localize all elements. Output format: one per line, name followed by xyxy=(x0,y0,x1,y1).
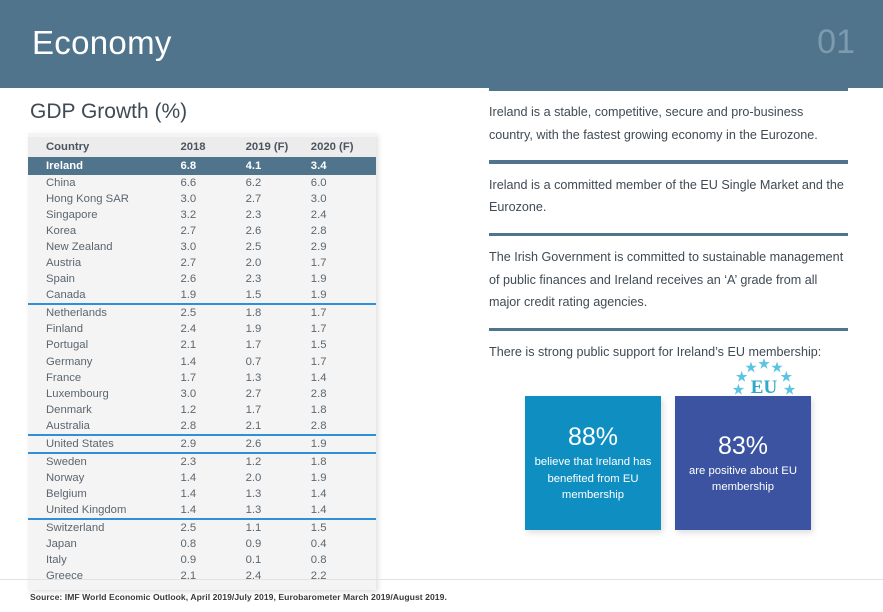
cell-2019: 1.3 xyxy=(246,370,311,386)
cell-2018: 1.7 xyxy=(180,370,245,386)
table-row: United Kingdom1.41.31.4 xyxy=(28,502,376,519)
cell-2018: 6.6 xyxy=(180,175,245,191)
cell-2018: 2.4 xyxy=(180,321,245,337)
table-row: Spain2.62.31.9 xyxy=(28,271,376,287)
table-header: Country 2018 2019 (F) 2020 (F) xyxy=(28,137,376,157)
table-row: Austria2.72.01.7 xyxy=(28,255,376,271)
column-header-country: Country xyxy=(28,137,180,157)
cell-2019: 2.5 xyxy=(246,239,311,255)
cell-2020: 2.2 xyxy=(311,568,376,584)
cell-2018: 2.3 xyxy=(180,453,245,470)
cell-2020: 2.8 xyxy=(311,223,376,239)
cell-country: Ireland xyxy=(28,157,180,175)
fact-block-3: The Irish Government is committed to sus… xyxy=(489,233,849,314)
cell-2018: 0.8 xyxy=(180,536,245,552)
cell-2018: 3.0 xyxy=(180,191,245,207)
fact-rule-4 xyxy=(489,328,848,331)
cell-country: Canada xyxy=(28,287,180,304)
cell-2019: 2.7 xyxy=(246,386,311,402)
cell-2019: 4.1 xyxy=(246,157,311,175)
column-header-2020: 2020 (F) xyxy=(311,137,376,157)
fact-rule-2 xyxy=(489,160,848,163)
cell-country: Portugal xyxy=(28,337,180,353)
cell-2019: 2.0 xyxy=(246,470,311,486)
cell-2020: 1.8 xyxy=(311,402,376,418)
table-row: Denmark1.21.71.8 xyxy=(28,402,376,418)
fact-text-2: Ireland is a committed member of the EU … xyxy=(489,174,848,219)
fact-block-2: Ireland is a committed member of the EU … xyxy=(489,160,849,218)
cell-2020: 1.7 xyxy=(311,354,376,370)
cell-2020: 0.8 xyxy=(311,552,376,568)
fact-text-1: Ireland is a stable, competitive, secure… xyxy=(489,101,848,146)
cell-2018: 1.4 xyxy=(180,354,245,370)
table-row: Singapore3.22.32.4 xyxy=(28,207,376,223)
column-header-2019: 2019 (F) xyxy=(246,137,311,157)
column-header-2018: 2018 xyxy=(180,137,245,157)
slide-number: 01 xyxy=(817,20,855,64)
cell-country: Korea xyxy=(28,223,180,239)
table-row: Switzerland2.51.11.5 xyxy=(28,519,376,536)
table-row: France1.71.31.4 xyxy=(28,370,376,386)
cell-country: Denmark xyxy=(28,402,180,418)
cell-2020: 1.5 xyxy=(311,337,376,353)
cell-country: Belgium xyxy=(28,486,180,502)
table-row: Italy0.90.10.8 xyxy=(28,552,376,568)
table-row: Finland2.41.91.7 xyxy=(28,321,376,337)
cell-2019: 1.8 xyxy=(246,304,311,321)
stat-percent-88: 88% xyxy=(568,422,618,452)
section-title: GDP Growth (%) xyxy=(30,100,187,124)
cell-2018: 2.1 xyxy=(180,568,245,584)
cell-2019: 0.1 xyxy=(246,552,311,568)
cell-country: Luxembourg xyxy=(28,386,180,402)
cell-2018: 2.7 xyxy=(180,223,245,239)
cell-2020: 2.9 xyxy=(311,239,376,255)
stat-label-88: believe that Ireland has benefited from … xyxy=(531,454,655,504)
left-column: GDP Growth (%) Country 2018 2019 (F) 202… xyxy=(0,88,455,580)
cell-2020: 3.4 xyxy=(311,157,376,175)
table-row: Sweden2.31.21.8 xyxy=(28,453,376,470)
cell-2019: 1.9 xyxy=(246,321,311,337)
table-row: Luxembourg3.02.72.8 xyxy=(28,386,376,402)
page-header: Economy 01 xyxy=(0,0,883,88)
cell-2020: 1.4 xyxy=(311,370,376,386)
cell-country: Greece xyxy=(28,568,180,584)
cell-2020: 1.7 xyxy=(311,304,376,321)
table-row: United States2.92.61.9 xyxy=(28,435,376,453)
footer-divider xyxy=(0,579,883,580)
table-row: Ireland6.84.13.4 xyxy=(28,157,376,175)
cell-country: Norway xyxy=(28,470,180,486)
cell-2019: 2.3 xyxy=(246,207,311,223)
cell-country: United States xyxy=(28,435,180,453)
table-row: Japan0.80.90.4 xyxy=(28,536,376,552)
cell-country: New Zealand xyxy=(28,239,180,255)
cell-country: United Kingdom xyxy=(28,502,180,519)
cell-2020: 2.8 xyxy=(311,386,376,402)
cell-2020: 6.0 xyxy=(311,175,376,191)
stats-area: EU 88% believe that Ireland has benefite… xyxy=(489,356,849,556)
cell-2020: 1.4 xyxy=(311,502,376,519)
cell-2020: 1.7 xyxy=(311,255,376,271)
cell-country: Austria xyxy=(28,255,180,271)
table-row: Norway1.42.01.9 xyxy=(28,470,376,486)
cell-country: Singapore xyxy=(28,207,180,223)
cell-2020: 1.8 xyxy=(311,453,376,470)
cell-country: Spain xyxy=(28,271,180,287)
cell-2018: 6.8 xyxy=(180,157,245,175)
stat-percent-83: 83% xyxy=(718,431,768,461)
cell-2018: 3.0 xyxy=(180,239,245,255)
cell-2020: 1.4 xyxy=(311,486,376,502)
cell-2020: 2.8 xyxy=(311,418,376,435)
cell-2018: 1.4 xyxy=(180,486,245,502)
cell-2018: 0.9 xyxy=(180,552,245,568)
cell-2019: 0.9 xyxy=(246,536,311,552)
fact-rule-3 xyxy=(489,233,848,236)
cell-2018: 3.2 xyxy=(180,207,245,223)
cell-2019: 2.4 xyxy=(246,568,311,584)
cell-2019: 1.3 xyxy=(246,486,311,502)
cell-country: Finland xyxy=(28,321,180,337)
table-row: Germany1.40.71.7 xyxy=(28,354,376,370)
cell-country: Sweden xyxy=(28,453,180,470)
cell-2019: 2.6 xyxy=(246,435,311,453)
source-note: Source: IMF World Economic Outlook, Apri… xyxy=(30,592,447,602)
cell-2019: 6.2 xyxy=(246,175,311,191)
cell-2019: 2.6 xyxy=(246,223,311,239)
cell-2019: 1.2 xyxy=(246,453,311,470)
cell-2020: 0.4 xyxy=(311,536,376,552)
cell-2020: 3.0 xyxy=(311,191,376,207)
table-row: China6.66.26.0 xyxy=(28,175,376,191)
cell-2018: 2.8 xyxy=(180,418,245,435)
table-row: Portugal2.11.71.5 xyxy=(28,337,376,353)
cell-2018: 2.5 xyxy=(180,304,245,321)
cell-2019: 1.7 xyxy=(246,337,311,353)
cell-2018: 2.1 xyxy=(180,337,245,353)
cell-2018: 2.7 xyxy=(180,255,245,271)
table-row: Canada1.91.51.9 xyxy=(28,287,376,304)
cell-country: Hong Kong SAR xyxy=(28,191,180,207)
stat-box-88: 88% believe that Ireland has benefited f… xyxy=(525,396,661,530)
table-row: Netherlands2.51.81.7 xyxy=(28,304,376,321)
cell-country: Japan xyxy=(28,536,180,552)
cell-2019: 2.1 xyxy=(246,418,311,435)
cell-2020: 1.9 xyxy=(311,287,376,304)
cell-2018: 1.9 xyxy=(180,287,245,304)
stat-box-83: 83% are positive about EU membership xyxy=(675,396,811,530)
table-row: Korea2.72.62.8 xyxy=(28,223,376,239)
table-row: Belgium1.41.31.4 xyxy=(28,486,376,502)
cell-2020: 1.9 xyxy=(311,470,376,486)
cell-2019: 1.7 xyxy=(246,402,311,418)
table-row: Hong Kong SAR3.02.73.0 xyxy=(28,191,376,207)
table-body: Ireland6.84.13.4China6.66.26.0Hong Kong … xyxy=(28,157,376,584)
cell-country: Australia xyxy=(28,418,180,435)
cell-2019: 1.3 xyxy=(246,502,311,519)
cell-2020: 2.4 xyxy=(311,207,376,223)
cell-2018: 1.4 xyxy=(180,470,245,486)
table-row: Greece2.12.42.2 xyxy=(28,568,376,584)
cell-2019: 2.0 xyxy=(246,255,311,271)
fact-block-1: Ireland is a stable, competitive, secure… xyxy=(489,88,849,146)
cell-country: Germany xyxy=(28,354,180,370)
cell-2018: 2.5 xyxy=(180,519,245,536)
cell-2018: 3.0 xyxy=(180,386,245,402)
cell-2018: 2.9 xyxy=(180,435,245,453)
page-title: Economy xyxy=(32,22,172,64)
cell-2020: 1.9 xyxy=(311,271,376,287)
table-header-row: Country 2018 2019 (F) 2020 (F) xyxy=(28,137,376,157)
gdp-table-card: Country 2018 2019 (F) 2020 (F) Ireland6.… xyxy=(28,133,376,590)
cell-2019: 2.7 xyxy=(246,191,311,207)
gdp-growth-table: Country 2018 2019 (F) 2020 (F) Ireland6.… xyxy=(28,137,376,584)
cell-2019: 0.7 xyxy=(246,354,311,370)
cell-2019: 1.5 xyxy=(246,287,311,304)
right-column: Ireland is a stable, competitive, secure… xyxy=(489,88,849,580)
cell-2018: 1.2 xyxy=(180,402,245,418)
cell-country: Switzerland xyxy=(28,519,180,536)
stat-label-83: are positive about EU membership xyxy=(681,463,805,496)
cell-2018: 2.6 xyxy=(180,271,245,287)
cell-2019: 1.1 xyxy=(246,519,311,536)
cell-2020: 1.9 xyxy=(311,435,376,453)
eu-logo-label: EU xyxy=(751,377,778,398)
table-row: Australia2.82.12.8 xyxy=(28,418,376,435)
cell-country: France xyxy=(28,370,180,386)
cell-2019: 2.3 xyxy=(246,271,311,287)
cell-2018: 1.4 xyxy=(180,502,245,519)
cell-country: Italy xyxy=(28,552,180,568)
cell-country: China xyxy=(28,175,180,191)
fact-rule-1 xyxy=(489,88,848,91)
cell-2020: 1.7 xyxy=(311,321,376,337)
fact-text-3: The Irish Government is committed to sus… xyxy=(489,246,848,314)
cell-country: Netherlands xyxy=(28,304,180,321)
table-row: New Zealand3.02.52.9 xyxy=(28,239,376,255)
cell-2020: 1.5 xyxy=(311,519,376,536)
